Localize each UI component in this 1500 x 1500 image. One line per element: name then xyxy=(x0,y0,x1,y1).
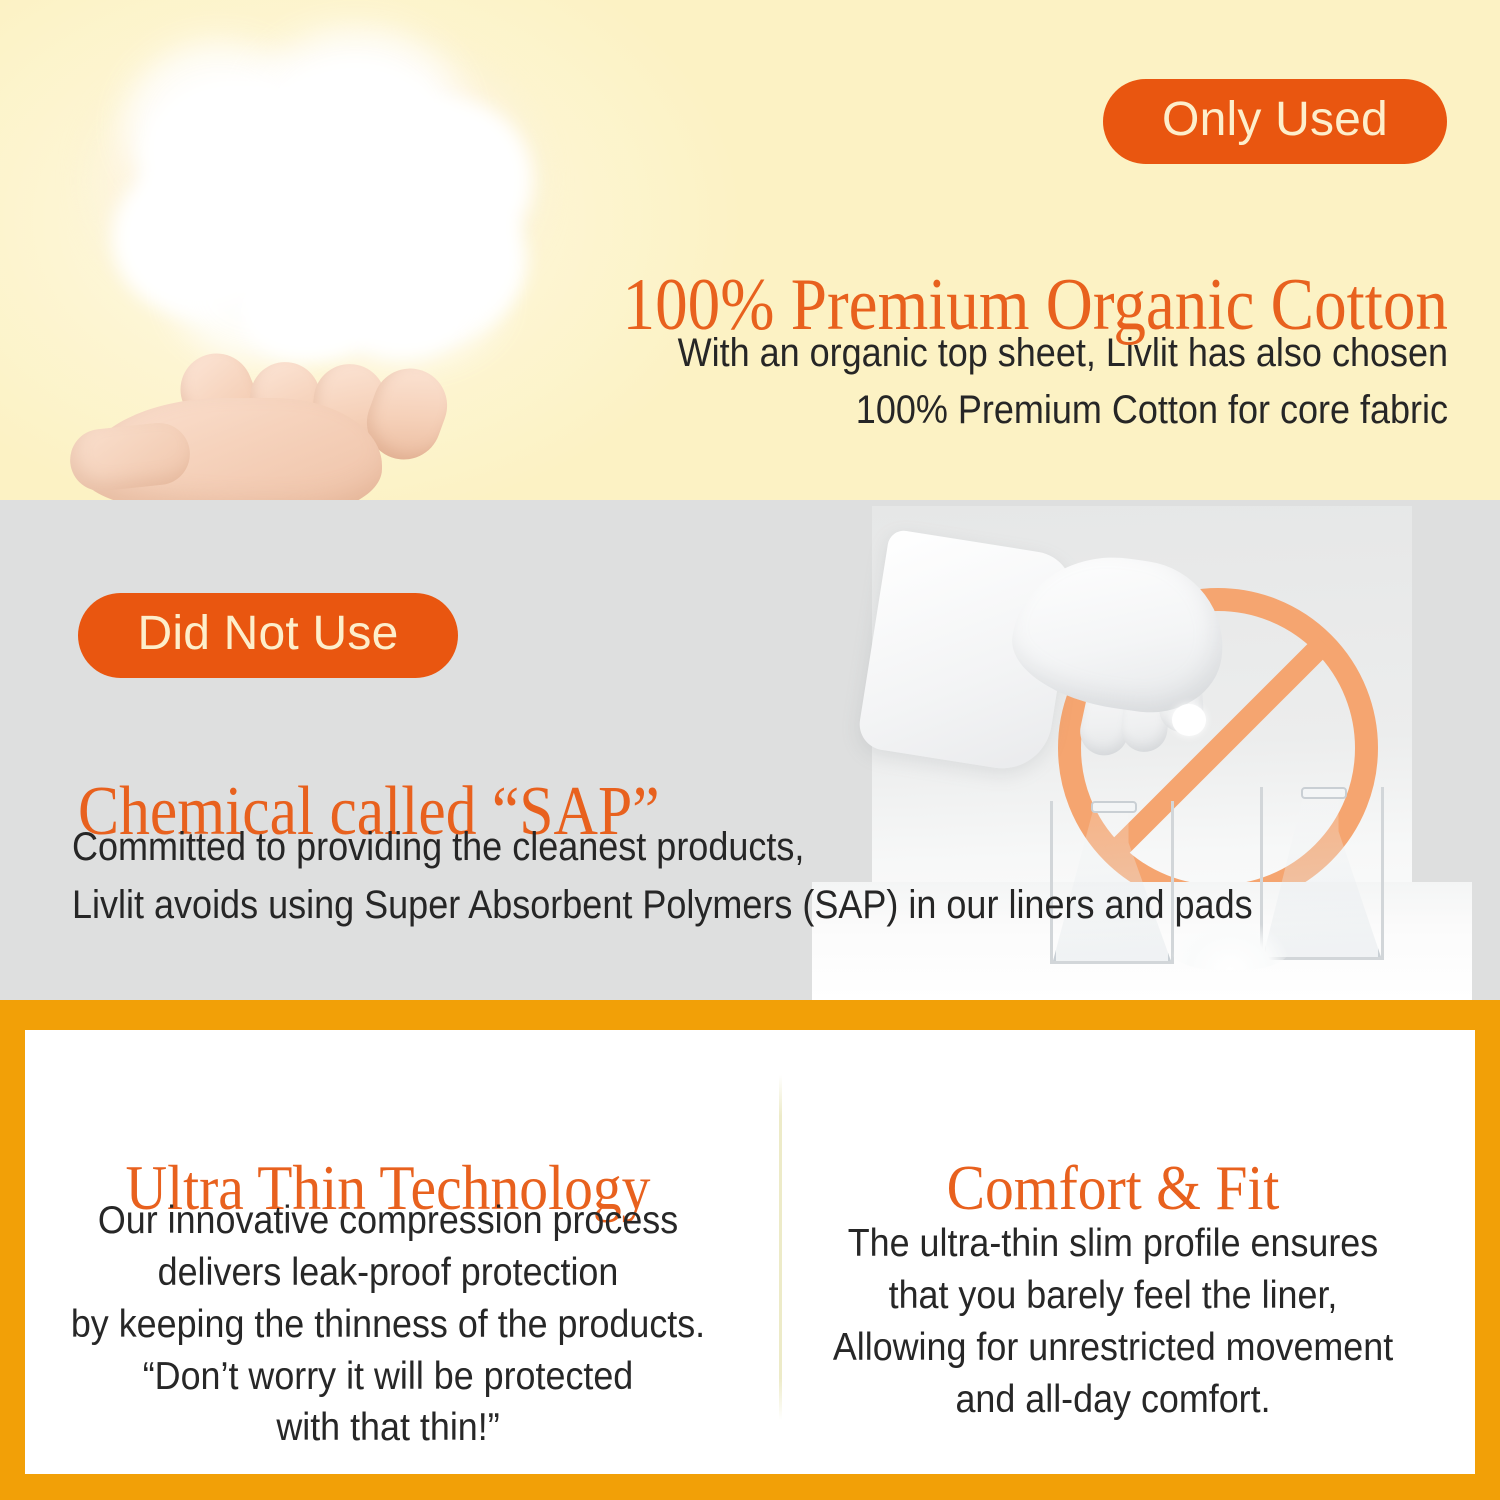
open-hand xyxy=(60,340,510,500)
cotton-body-line: With an organic top sheet, Livlit has al… xyxy=(678,325,1448,382)
product-infographic: Only Used 100% Premium Organic Cotton Wi… xyxy=(0,0,1500,1500)
cotton-body: With an organic top sheet, Livlit has al… xyxy=(678,325,1448,439)
cotton-body-line: 100% Premium Cotton for core fabric xyxy=(678,382,1448,439)
sap-body-line: Livlit avoids using Super Absorbent Poly… xyxy=(72,876,1253,934)
ultra-thin-body: Our innovative compression process deliv… xyxy=(70,1195,704,1454)
cotton-panel-copy: Only Used 100% Premium Organic Cotton Wi… xyxy=(548,0,1448,500)
cotton-panel: Only Used 100% Premium Organic Cotton Wi… xyxy=(0,0,1500,500)
badge-only-used: Only Used xyxy=(1103,79,1447,164)
feature-column-ultra-thin: Ultra Thin Technology Our innovative com… xyxy=(25,1030,750,1474)
comfort-fit-body-line: The ultra-thin slim profile ensures xyxy=(832,1218,1392,1270)
comfort-fit-body-line: and all-day comfort. xyxy=(832,1374,1392,1426)
sap-body: Committed to providing the cleanest prod… xyxy=(72,818,1253,935)
ultra-thin-body-line: “Don’t worry it will be protected xyxy=(70,1351,704,1403)
comfort-fit-heading: Comfort & Fit xyxy=(946,1156,1279,1220)
sap-panel-copy: Did Not Use Chemical called “SAP” Commit… xyxy=(0,500,1400,1000)
features-panel: Ultra Thin Technology Our innovative com… xyxy=(0,1000,1500,1500)
features-card: Ultra Thin Technology Our innovative com… xyxy=(25,1030,1475,1474)
feature-column-comfort-fit: Comfort & Fit The ultra-thin slim profil… xyxy=(750,1030,1475,1474)
comfort-fit-body-line: Allowing for unrestricted movement xyxy=(832,1322,1392,1374)
ultra-thin-body-line: delivers leak-proof protection xyxy=(70,1247,704,1299)
ultra-thin-body-line: by keeping the thinness of the products. xyxy=(70,1299,704,1351)
ultra-thin-body-line: Our innovative compression process xyxy=(70,1195,704,1247)
comfort-fit-body: The ultra-thin slim profile ensures that… xyxy=(832,1218,1392,1425)
comfort-fit-body-line: that you barely feel the liner, xyxy=(832,1270,1392,1322)
badge-did-not-use: Did Not Use xyxy=(78,593,458,678)
sap-body-line: Committed to providing the cleanest prod… xyxy=(72,818,1253,876)
cotton-cloud-image xyxy=(42,18,562,500)
ultra-thin-body-line: with that thin!” xyxy=(70,1402,704,1454)
